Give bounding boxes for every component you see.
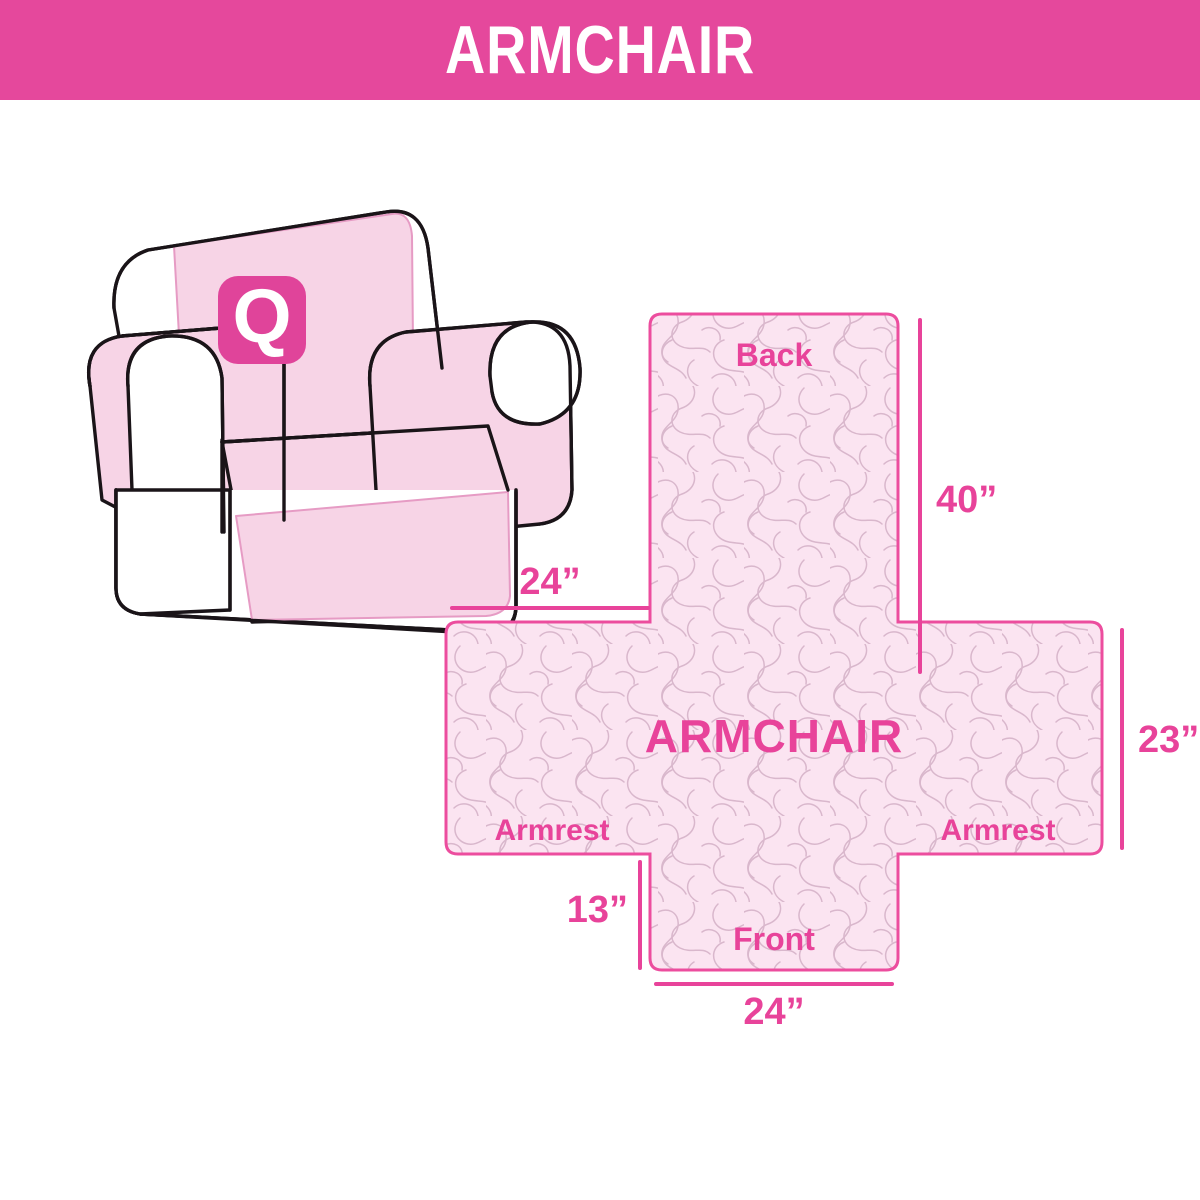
label-armchair-center: ARMCHAIR: [645, 710, 903, 762]
dimension-value-23: 23”: [1138, 719, 1199, 761]
pattern-diagram-svg: Back ARMCHAIR Armrest Armrest Front 40” …: [400, 300, 1200, 1180]
header-banner: ARMCHAIR: [0, 0, 1200, 100]
dimension-value-40: 40”: [936, 479, 997, 521]
label-armrest-left: Armrest: [494, 814, 609, 847]
dimension-value-24-top: 24”: [519, 561, 580, 603]
dimension-front-width: 24”: [656, 984, 892, 1033]
brand-logo-badge: Q: [218, 274, 306, 364]
content-area: Q: [0, 100, 1200, 1200]
dimension-value-24-bottom: 24”: [743, 991, 804, 1033]
label-back: Back: [736, 337, 813, 373]
dimension-front-height: 13”: [567, 862, 640, 968]
page-title: ARMCHAIR: [445, 16, 755, 84]
label-front: Front: [733, 921, 815, 957]
label-armrest-right: Armrest: [940, 814, 1055, 847]
pattern-diagram: Back ARMCHAIR Armrest Armrest Front 40” …: [400, 300, 1200, 1180]
dimension-value-13: 13”: [567, 889, 628, 931]
cover-pattern-shape: [446, 314, 1102, 970]
dimension-back-height: 40”: [920, 320, 997, 672]
logo-letter: Q: [232, 274, 291, 359]
dimension-armrest-depth: 23”: [1122, 630, 1199, 848]
dimension-armrest-top-width: 24”: [452, 561, 648, 608]
